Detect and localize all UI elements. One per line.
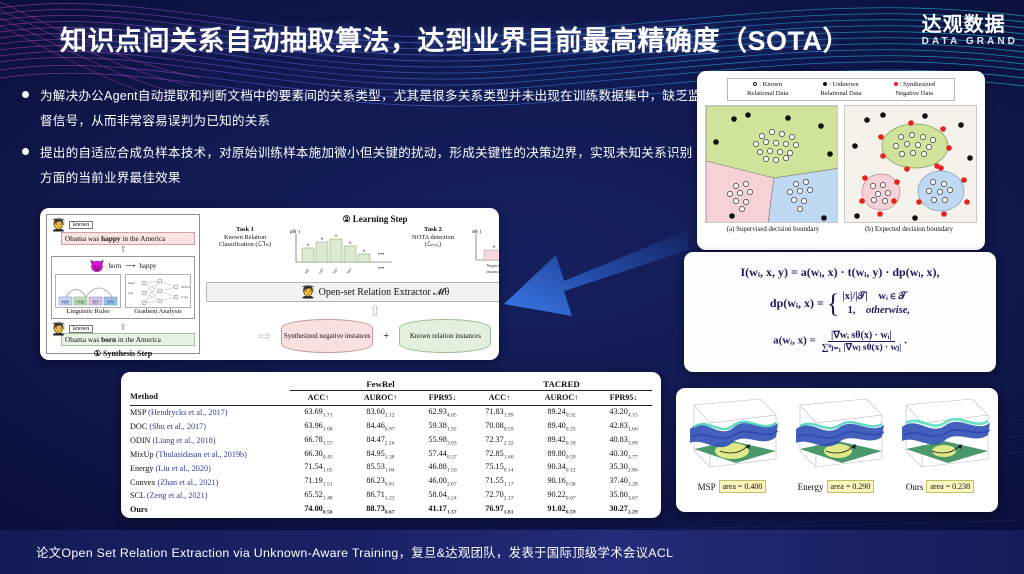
cell-value: 72.702.17 <box>471 489 528 503</box>
cell-value: 62.934.05 <box>414 406 471 420</box>
cell-stddev: 3.67 <box>628 496 638 502</box>
cell-stddev: 2.86 <box>628 468 638 474</box>
cell-value: 55.983.03 <box>414 434 471 448</box>
case-2-cond: otherwise, <box>866 305 910 316</box>
cell-method: Ours <box>130 503 290 517</box>
citation: (Zeng et al., 2021) <box>147 491 208 500</box>
cell-value: 41.171.37 <box>414 503 471 517</box>
results-table: Method FewRel TACRED ACC↑ AUROC↑ FPR95↓ … <box>130 379 652 517</box>
cell-value: 86.230.81 <box>347 475 414 489</box>
cell-value: 84.460.97 <box>347 420 414 434</box>
black-dot-icon <box>823 82 827 86</box>
cell-method: SCL (Zeng et al., 2021) <box>130 489 290 503</box>
surface-plot-msp <box>680 393 784 479</box>
surface-caption-energy: Energy area = 0.290 <box>784 480 888 493</box>
fraction-numerator: |∇wᵢ sθ(x) · wᵢ| <box>828 330 895 342</box>
step-2-label: ② Learning Step <box>206 214 499 225</box>
svg-text:⟡: ⟡ <box>363 248 366 253</box>
gradient-analysis-label: Gradient Analysis <box>125 308 191 315</box>
svg-text:instances: instances <box>486 269 499 274</box>
cell-value: 71.551.17 <box>471 475 528 489</box>
analysis-box: 😈 born ⟶ happy <box>51 256 195 319</box>
slide-footer: 论文Open Set Relation Extraction via Unkno… <box>0 530 1024 574</box>
known-tag-bottom: known <box>69 325 93 333</box>
sentence-happy: Obama was happy in the America <box>61 232 195 245</box>
cell-value: 84.472.16 <box>347 434 414 448</box>
figure-decision-boundary: : Known Relational Data : Unknown Relati… <box>697 71 985 250</box>
column-group-fewrel: FewRel <box>290 379 471 391</box>
cell-value: 63.961.00 <box>290 420 347 434</box>
panel-expected <box>844 105 977 223</box>
cell-value: 66.781.57 <box>290 434 347 448</box>
relation-to: happy <box>139 262 156 270</box>
cell-stddev: 2.32 <box>504 440 514 446</box>
cell-stddev: 1.84 <box>385 468 395 474</box>
logo-text-cn: 达观数据 <box>922 15 1018 35</box>
table-row: DOC (Shu et al., 2017)63.961.0084.460.97… <box>130 420 652 434</box>
svg-text:⟡: ⟡ <box>321 236 324 241</box>
cell-method: Energy (Liu et al., 2020) <box>130 461 290 475</box>
svg-text:sθ(·): sθ(·) <box>472 230 482 235</box>
cell-value: 71.541.05 <box>290 461 347 475</box>
extractor-label: Open-set Relation Extractor 𝓜θ <box>319 287 450 298</box>
person-icon: 🧑‍🎓 <box>51 323 66 335</box>
cell-stddev: 0.14 <box>504 468 514 474</box>
cell-stddev: 1.51 <box>323 482 333 488</box>
citation: (Liang et al., 2018) <box>153 436 216 445</box>
synthesis-step-panel: 🧑‍🎓 known Obama was happy in the America… <box>46 214 200 354</box>
pos-tag-graph: PRP VBD DT NN <box>55 274 121 308</box>
task-2-block: Task 2 NOTA detection (ℒₙₒₜₐ) <box>400 226 466 249</box>
logo-text-en: DATA GRAND <box>922 35 1018 48</box>
cell-stddev: 0.67 <box>385 510 395 516</box>
table-row: Energy (Liu et al., 2020)71.541.0585.531… <box>130 461 652 475</box>
cell-stddev: 1.48 <box>323 496 333 502</box>
plus-sign: + <box>383 330 389 342</box>
fraction-denominator: ∑ⁿⱼ₌₁ |∇wⱼ sθ(x) · wⱼ| <box>819 343 905 353</box>
cell-stddev: 1.71 <box>323 413 333 419</box>
figure-captions: (a) Supervised decision boundary (b) Exp… <box>703 223 979 233</box>
column-header-method: Method <box>130 379 290 406</box>
cell-stddev: 0.12 <box>566 468 576 474</box>
cell-value: 66.300.45 <box>290 447 347 461</box>
cell-value: 72.851.60 <box>471 447 528 461</box>
open-set-relation-extractor: 🧑‍🎓 Open-set Relation Extractor 𝓜θ <box>206 282 499 302</box>
gradient-analysis-block: input text NOTA score Gradient Analysis <box>125 274 191 315</box>
task-2-barchart: sθ(·) ⟡ ⟡ Negativeinstances Knowninstanc… <box>470 226 499 281</box>
formula-3-fraction: |∇wᵢ sθ(x) · wᵢ| ∑ⁿⱼ₌₁ |∇wⱼ sθ(x) · wⱼ| <box>819 329 905 353</box>
svg-text:pθ(·): pθ(·) <box>290 230 300 235</box>
cell-stddev: 2.16 <box>385 440 395 446</box>
cell-value: 59.381.92 <box>414 420 471 434</box>
relation-arrow-icon: ⟶ <box>125 262 135 270</box>
column-header-fpr95-fewrel: FPR95↓ <box>414 391 471 406</box>
highlight-happy: happy <box>101 234 120 243</box>
cell-stddev: 0.59 <box>566 510 576 516</box>
cell-value: 35.302.86 <box>595 461 652 475</box>
surface-caption-ours: Ours area = 0.238 <box>888 480 992 493</box>
expected-regions <box>845 106 977 223</box>
cell-value: 71.831.99 <box>471 406 528 420</box>
surface-row <box>680 393 994 479</box>
column-header-auroc-tacred: AUROC↑ <box>528 391 595 406</box>
cell-value: 46.881.50 <box>414 461 471 475</box>
cell-value: 42.831.66 <box>595 420 652 434</box>
cell-method: ODIN (Liang et al., 2018) <box>130 434 290 448</box>
cell-stddev: 0.59 <box>504 427 514 433</box>
table-row: MixUp (Thulasidasan et al., 2019b)66.300… <box>130 447 652 461</box>
formula-line-1: I(wᵢ, x, y) = a(wᵢ, x) · t(wᵢ, y) · dp(w… <box>684 265 996 280</box>
figure-formula: I(wᵢ, x, y) = a(wᵢ, x) · t(wᵢ, y) · dp(w… <box>684 252 996 372</box>
table-row: Convex (Zhan et al., 2021)71.191.5186.23… <box>130 475 652 489</box>
cell-value: 46.002.67 <box>414 475 471 489</box>
task-1-sub1: Known Relation <box>206 234 284 242</box>
figure-framework: 🧑‍🎓 known Obama was happy in the America… <box>40 208 499 360</box>
cell-stddev: 1.38 <box>385 454 395 460</box>
cell-value: 83.602.12 <box>347 406 414 420</box>
cell-stddev: 3.03 <box>447 440 457 446</box>
linguistic-rules-label: Linguistic Rules <box>55 308 121 315</box>
surface-svg <box>680 393 784 479</box>
cell-stddev: 4.15 <box>628 413 638 419</box>
cell-value: 91.020.59 <box>528 503 595 517</box>
cell-value: 43.204.15 <box>595 406 652 420</box>
model-icon: 🧑‍🎓 <box>301 286 316 298</box>
cell-value: 75.150.14 <box>471 461 528 475</box>
bullet-list: 为解决办公Agent自动提取和判断文档中的要素间的关系类型，尤其是很多关系类型并… <box>22 84 702 198</box>
citation: (Liu et al., 2020) <box>156 464 211 473</box>
cell-stddev: 1.37 <box>447 510 457 516</box>
svg-text:rel⁴: rel⁴ <box>345 267 353 275</box>
column-header-fpr95-tacred: FPR95↓ <box>595 391 652 406</box>
red-dot-icon <box>894 82 898 86</box>
citation: (Hendrycks et al., 2017) <box>148 408 227 417</box>
cell-stddev: 1.50 <box>447 468 457 474</box>
formula-3-lhs: a(wᵢ, x) = <box>773 335 816 347</box>
surface-caption-msp: MSP area = 0.400 <box>680 480 784 493</box>
surface-svg <box>786 393 890 479</box>
table-head: Method FewRel TACRED ACC↑ AUROC↑ FPR95↓ … <box>130 379 652 406</box>
citation: (Thulasidasan et al., 2019b) <box>156 450 247 459</box>
cell-stddev: 4.05 <box>447 413 457 419</box>
legend-item-unknown: : Unknown Relational Data <box>820 81 861 98</box>
cell-stddev: 2.67 <box>447 482 457 488</box>
list-item: 提出的自适应合成负样本技术，对原始训练样本施加微小但关键的扰动，形成关键性的决策… <box>22 141 702 191</box>
cell-stddev: 1.23 <box>385 496 395 502</box>
svg-text:score: score <box>181 295 189 299</box>
cell-value: 89.420.30 <box>528 434 595 448</box>
cell-stddev: 3.28 <box>628 482 638 488</box>
slide-header: 知识点间关系自动抽取算法，达到业界目前最高精确度（SOTA） 达观数据 DATA… <box>0 0 1024 74</box>
cell-stddev: 0.58 <box>566 482 576 488</box>
task-1-title: Task 1 <box>206 226 284 234</box>
task-2-sub1: NOTA detection <box>400 234 466 242</box>
svg-text:DT: DT <box>92 300 98 305</box>
up-arrow-icon-top: ⇧ <box>51 245 195 254</box>
surface-label: Ours <box>906 482 924 492</box>
task-2-title: Task 2 <box>400 226 466 234</box>
neural-net-graph: input text NOTA score <box>125 274 191 308</box>
cell-stddev: 2.29 <box>628 510 638 516</box>
cylinder-known: Known relation instances <box>399 319 491 353</box>
cell-method: Convex (Zhan et al., 2021) <box>130 475 290 489</box>
cell-stddev: 2.17 <box>504 496 514 502</box>
cell-value: 40.303.77 <box>595 447 652 461</box>
cell-value: 40.833.09 <box>595 434 652 448</box>
cell-stddev: 3.09 <box>628 440 638 446</box>
column-header-acc-fewrel: ACC↑ <box>290 391 347 406</box>
cell-stddev: 1.99 <box>504 413 514 419</box>
highlight-born: born <box>101 335 116 344</box>
cell-value: 88.730.67 <box>347 503 414 517</box>
caption-b: (b) Expected decision boundary <box>841 226 977 233</box>
linguistic-rules-block: PRP VBD DT NN Linguistic Rules <box>55 274 121 315</box>
page-title: 知识点间关系自动抽取算法，达到业界目前最高精确度（SOTA） <box>60 19 850 58</box>
svg-text:⟡: ⟡ <box>349 240 352 245</box>
task-1-block: Task 1 Known Relation Classification (ℒꓶ… <box>206 226 284 249</box>
svg-text:NN: NN <box>107 300 114 305</box>
cell-value: 89.240.32 <box>528 406 595 420</box>
cell-value: 30.272.29 <box>595 503 652 517</box>
task-1-sub2: Classification (ℒꓶₗₛ) <box>206 241 284 249</box>
cell-value: 90.340.12 <box>528 461 595 475</box>
cell-stddev: 1.66 <box>628 427 638 433</box>
svg-text:⟡: ⟡ <box>493 244 496 249</box>
svg-text:•••: ••• <box>378 266 384 272</box>
cell-value: 89.400.25 <box>528 420 595 434</box>
cell-stddev: 0.25 <box>566 427 576 433</box>
footer-text: 论文Open Set Relation Extraction via Unkno… <box>0 543 673 561</box>
person-icon: 🧑‍🎓 <box>51 219 66 231</box>
brand-logo: 达观数据 DATA GRAND <box>922 15 1018 48</box>
legend-item-known: : Known Relational Data <box>747 81 788 98</box>
cylinder-synthesized: Synthesized negative instances <box>281 319 373 353</box>
bar-chart-stheta: sθ(·) ⟡ ⟡ Negativeinstances Knowninstanc… <box>470 226 499 276</box>
cell-value: 71.191.51 <box>290 475 347 489</box>
left-brace-icon: { <box>827 289 839 319</box>
cell-stddev: 0.37 <box>447 454 457 460</box>
cell-value: 89.800.59 <box>528 447 595 461</box>
area-badge: area = 0.400 <box>719 480 767 493</box>
svg-text:NOTA: NOTA <box>181 285 191 289</box>
bullet-text: 提出的自适应合成负样本技术，对原始训练样本施加微小但关键的扰动，形成关键性的决策… <box>40 141 702 191</box>
svg-text:Negative: Negative <box>486 263 499 268</box>
supervised-regions <box>706 106 838 223</box>
panel-supervised <box>705 105 838 223</box>
cell-value: 37.403.28 <box>595 475 652 489</box>
cell-method: DOC (Shu et al., 2017) <box>130 420 290 434</box>
svg-text:PRP: PRP <box>61 300 70 305</box>
bullet-text: 为解决办公Agent自动提取和判断文档中的要素间的关系类型，尤其是很多关系类型并… <box>40 84 702 134</box>
formula-3-period: . <box>904 335 907 347</box>
svg-text:input: input <box>128 281 135 285</box>
slide-canvas: 知识点间关系自动抽取算法，达到业界目前最高精确度（SOTA） 达观数据 DATA… <box>0 0 1024 574</box>
cell-stddev: 3.77 <box>628 454 638 460</box>
surface-label: Energy <box>798 482 824 492</box>
formula-2-cases: |x|/|𝒯| wᵢ ∈ 𝒯 1, otherwise, <box>842 290 910 318</box>
cell-value: 57.440.37 <box>414 447 471 461</box>
sentence-born: Obama was born in the America <box>61 333 195 346</box>
column-group-tacred: TACRED <box>471 379 652 391</box>
figure-loss-surfaces: MSP area = 0.400 Energy area = 0.290 Our… <box>676 388 998 512</box>
table-row: ODIN (Liang et al., 2018)66.781.5784.472… <box>130 434 652 448</box>
formula-line-3: a(wᵢ, x) = |∇wᵢ sθ(x) · wᵢ| ∑ⁿⱼ₌₁ |∇wⱼ s… <box>684 329 996 353</box>
cell-value: 85.531.84 <box>347 461 414 475</box>
surface-svg <box>892 393 996 479</box>
relation-from: born <box>108 262 121 270</box>
cell-value: 35.803.67 <box>595 489 652 503</box>
cell-stddev: 1.00 <box>323 427 333 433</box>
formula-line-2: dp(wᵢ, x) = { |x|/|𝒯| wᵢ ∈ 𝒯 1, otherwis… <box>684 289 996 319</box>
framework-body: 🧑‍🎓 known Obama was happy in the America… <box>46 214 493 354</box>
task-1-barchart: pθ(·) ⟡⟡⟡⟡⟡ rel¹ <box>288 226 396 281</box>
cell-stddev: 1.17 <box>504 482 514 488</box>
devil-icon: 😈 <box>90 260 105 272</box>
cell-stddev: 2.12 <box>385 413 395 419</box>
surface-label: MSP <box>698 482 716 492</box>
cell-stddev: 0.30 <box>566 440 576 446</box>
cell-value: 86.711.23 <box>347 489 414 503</box>
cell-value: 76.971.81 <box>471 503 528 517</box>
boundary-panels <box>703 105 979 223</box>
svg-text:VBD: VBD <box>76 300 86 305</box>
cell-value: 72.372.32 <box>471 434 528 448</box>
bullet-dot-icon <box>22 91 29 98</box>
cell-value: 58.043.24 <box>414 489 471 503</box>
area-badge: area = 0.238 <box>926 480 974 493</box>
cell-value: 84.951.38 <box>347 447 414 461</box>
figure-results-table: Method FewRel TACRED ACC↑ AUROC↑ FPR95↓ … <box>121 372 661 518</box>
surface-plot-ours <box>892 393 996 479</box>
svg-text:rel³: rel³ <box>331 267 339 275</box>
case-1-cond: wᵢ ∈ 𝒯 <box>878 291 906 302</box>
cell-stddev: 3.24 <box>447 496 457 502</box>
svg-text:⟡: ⟡ <box>335 233 338 238</box>
table-row: SCL (Zeng et al., 2021)65.521.4886.711.2… <box>130 489 652 503</box>
column-header-acc-tacred: ACC↑ <box>471 391 528 406</box>
cell-stddev: 1.57 <box>323 440 333 446</box>
cell-stddev: 0.45 <box>323 454 333 460</box>
column-header-auroc-fewrel: AUROC↑ <box>347 391 414 406</box>
case-1-value: |x|/|𝒯| <box>842 291 867 302</box>
cell-method: MSP (Hendrycks et al., 2017) <box>130 406 290 420</box>
bullet-dot-icon <box>22 148 29 155</box>
cell-stddev: 0.67 <box>566 496 576 502</box>
cell-value: 65.521.48 <box>290 489 347 503</box>
formula-2-lhs: dp(wᵢ, x) = <box>770 296 824 310</box>
pointer-arrow-icon <box>498 228 688 328</box>
cell-stddev: 1.05 <box>323 468 333 474</box>
svg-text:rel¹: rel¹ <box>303 267 311 275</box>
area-badge: area = 0.290 <box>827 480 875 493</box>
citation: (Shu et al., 2017) <box>149 422 206 431</box>
learning-step-panel: ② Learning Step Task 1 Known Relation Cl… <box>206 214 499 354</box>
svg-text:rel²: rel² <box>317 267 325 275</box>
caption-a: (a) Supervised decision boundary <box>705 226 841 233</box>
left-feed-arrow-icon: ⇨ <box>259 327 272 345</box>
svg-text:text: text <box>128 291 133 295</box>
cell-value: 63.691.71 <box>290 406 347 420</box>
cell-value: 70.080.59 <box>471 420 528 434</box>
table-row: Ours74.000.5688.730.6741.171.3776.971.81… <box>130 503 652 517</box>
cell-stddev: 1.60 <box>504 454 514 460</box>
list-item: 为解决办公Agent自动提取和判断文档中的要素间的关系类型，尤其是很多关系类型并… <box>22 84 702 134</box>
figure-legend: : Known Relational Data : Unknown Relati… <box>727 78 955 101</box>
step-1-label: ① Synthesis Step <box>51 349 195 358</box>
cell-stddev: 1.92 <box>447 427 457 433</box>
cell-stddev: 0.97 <box>385 427 395 433</box>
surface-labels-row: MSP area = 0.400 Energy area = 0.290 Our… <box>680 480 994 493</box>
cell-stddev: 0.59 <box>566 454 576 460</box>
citation: (Zhan et al., 2021) <box>158 478 219 487</box>
cell-stddev: 0.56 <box>323 510 333 516</box>
svg-text:•••: ••• <box>378 252 384 258</box>
case-2-value: 1, <box>848 305 856 316</box>
cell-method: MixUp (Thulasidasan et al., 2019b) <box>130 447 290 461</box>
legend-item-synthesized: : Synthesized Negative Data <box>894 81 935 98</box>
surface-plot-energy <box>786 393 890 479</box>
bar-chart-ptheta: pθ(·) ⟡⟡⟡⟡⟡ rel¹ <box>288 226 396 276</box>
task-2-sub2: (ℒₙₒₜₐ) <box>400 241 466 249</box>
svg-text:⟡: ⟡ <box>307 242 310 247</box>
open-circle-icon <box>753 82 757 86</box>
nn-graph-svg: input text NOTA score <box>126 275 192 309</box>
cell-stddev: 0.32 <box>566 413 576 419</box>
cell-stddev: 0.81 <box>385 482 395 488</box>
known-tag-top: known <box>69 221 93 229</box>
cell-value: 74.000.56 <box>290 503 347 517</box>
cell-stddev: 1.81 <box>504 510 514 516</box>
cell-value: 90.220.67 <box>528 489 595 503</box>
cell-value: 90.160.58 <box>528 475 595 489</box>
table-body: MSP (Hendrycks et al., 2017)63.691.7183.… <box>130 406 652 517</box>
pos-graph-svg: PRP VBD DT NN <box>56 275 122 309</box>
table-row: MSP (Hendrycks et al., 2017)63.691.7183.… <box>130 406 652 420</box>
